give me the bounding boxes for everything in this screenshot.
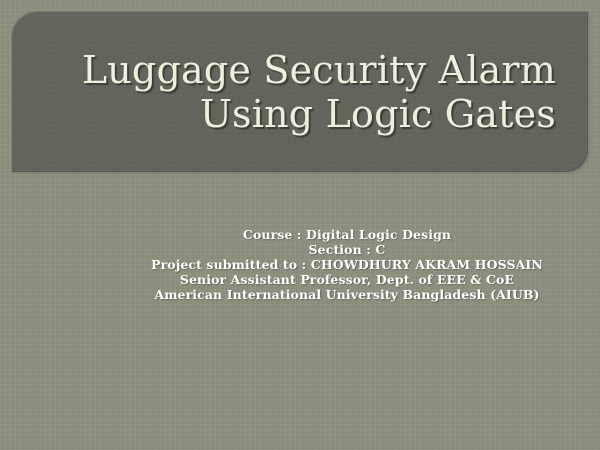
subtitle-line-section: Section : C xyxy=(130,242,564,257)
subtitle-line-designation: Senior Assistant Professor, Dept. of EEE… xyxy=(130,272,564,287)
presentation-slide: Luggage Security Alarm Using Logic Gates… xyxy=(0,0,600,450)
subtitle-line-submitted-to: Project submitted to : CHOWDHURY AKRAM H… xyxy=(130,257,564,272)
slide-title: Luggage Security Alarm Using Logic Gates xyxy=(82,48,556,136)
subtitle-line-course: Course : Digital Logic Design xyxy=(130,227,564,242)
slide-subtitle: Course : Digital Logic Design Section : … xyxy=(130,227,564,302)
subtitle-line-university: American International University Bangla… xyxy=(130,287,564,302)
slide-title-line-2: Using Logic Gates xyxy=(82,92,556,136)
slide-title-line-1: Luggage Security Alarm xyxy=(82,48,556,92)
title-banner: Luggage Security Alarm Using Logic Gates xyxy=(11,11,588,172)
